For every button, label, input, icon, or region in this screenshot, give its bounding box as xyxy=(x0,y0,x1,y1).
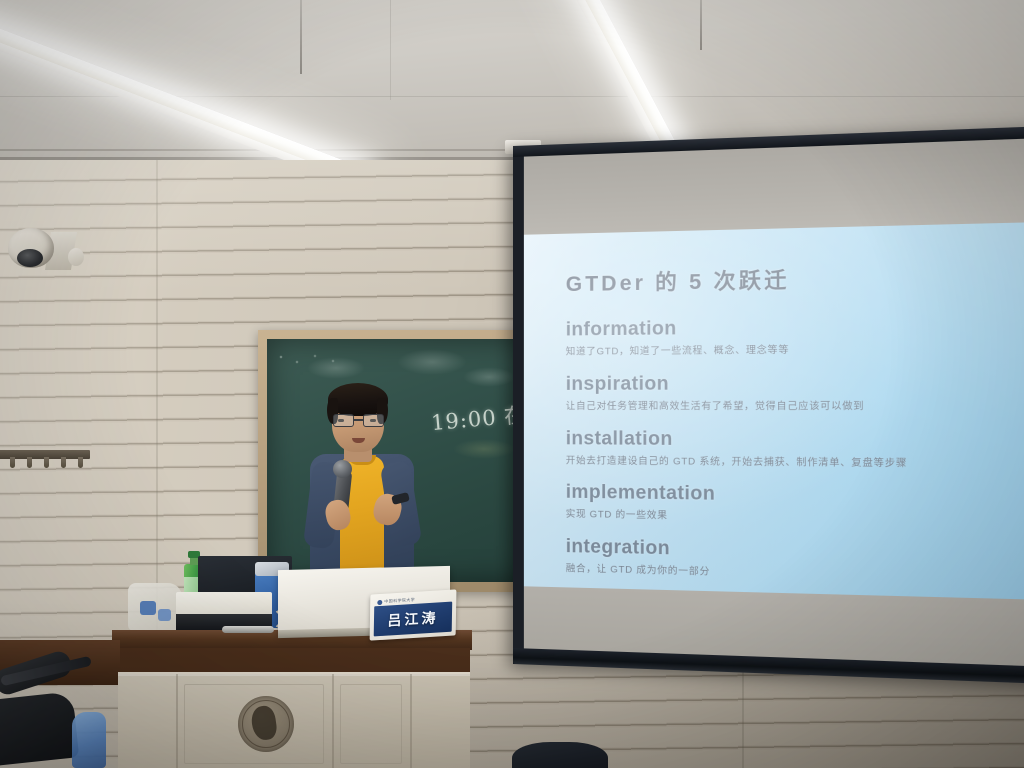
bottle-neck xyxy=(190,557,198,565)
plastic-bag xyxy=(128,583,182,631)
dome-security-camera xyxy=(8,222,82,280)
slide-section-implementation: implementation 实现 GTD 的一些效果 xyxy=(566,482,1024,530)
slide-section-installation: installation 开始去打造建设自己的 GTD 系统，开始去捕获、制作清… xyxy=(566,428,1024,472)
section-subtext: 实现 GTD 的一些效果 xyxy=(566,509,1024,530)
chalk-smudge xyxy=(453,439,515,459)
dark-object-foreground xyxy=(512,742,608,768)
presenter xyxy=(288,378,438,578)
section-subtext: 知道了GTD，知道了一些流程、概念、理念等等 xyxy=(566,343,1024,360)
glasses-bridge xyxy=(354,419,363,421)
podium-emblem xyxy=(238,696,294,752)
section-heading: installation xyxy=(566,428,1024,453)
camera-lens xyxy=(17,249,43,267)
podium-seam xyxy=(410,674,412,768)
blue-floor-object xyxy=(72,712,106,768)
section-heading: implementation xyxy=(566,482,1024,511)
nameplate-name: 吕江涛 xyxy=(387,607,438,630)
microphone-head xyxy=(333,460,352,478)
coat-hook xyxy=(27,457,32,468)
silver-pen xyxy=(222,626,274,633)
camera-wall-mount xyxy=(68,248,84,266)
glasses-icon xyxy=(332,414,385,428)
logo-dot-icon xyxy=(377,599,382,604)
slide-section-inspiration: inspiration 让自己对任务管理和高效生活有了希望，觉得自己应该可以做到 xyxy=(566,371,1024,414)
camera-dome xyxy=(8,228,54,268)
ceiling-panel-line xyxy=(390,0,391,100)
nameplate-plate: 吕江涛 xyxy=(374,602,453,637)
section-heading: inspiration xyxy=(566,371,1024,395)
glasses-lens xyxy=(333,414,354,427)
section-subtext: 融合，让 GTD 成为你的一部分 xyxy=(566,563,1024,587)
presentation-slide: GTDer 的 5 次跃迁 information 知道了GTD，知道了一些流程… xyxy=(524,222,1024,601)
podium xyxy=(118,672,470,768)
lamp-suspension-wire xyxy=(700,0,702,50)
bag-contents xyxy=(158,609,171,621)
slide-section-integration: integration 融合，让 GTD 成为你的一部分 xyxy=(566,536,1024,587)
coat-hook xyxy=(10,457,15,468)
coat-hook xyxy=(44,457,49,468)
chalk-smudge xyxy=(307,357,365,379)
section-subtext: 开始去打造建设自己的 GTD 系统，开始去捕获、制作清单、复盘等步骤 xyxy=(566,455,1024,472)
coat-hook xyxy=(61,457,66,468)
podium-panel xyxy=(340,684,402,764)
coat-hook xyxy=(78,457,83,468)
section-heading: integration xyxy=(566,536,1024,568)
podium-seam xyxy=(332,674,334,768)
screen-surface: GTDer 的 5 次跃迁 information 知道了GTD，知道了一些流程… xyxy=(524,137,1024,667)
section-heading: information xyxy=(566,314,1024,342)
slide-title: GTDer 的 5 次跃迁 xyxy=(566,259,1024,298)
section-subtext: 让自己对任务管理和高效生活有了希望，觉得自己应该可以做到 xyxy=(566,401,1024,415)
bag-contents xyxy=(140,601,156,615)
chalk-smudge xyxy=(463,367,515,387)
lecture-hall-photo: 19:00 在 GTDer 的 5 次跃迁 information 知道了GTD… xyxy=(0,0,1024,768)
glasses-lens xyxy=(363,414,384,427)
podium-seam xyxy=(176,674,178,768)
lamp-suspension-wire xyxy=(300,0,302,74)
projection-screen: GTDer 的 5 次跃迁 information 知道了GTD，知道了一些流程… xyxy=(513,125,1024,684)
slide-section-information: information 知道了GTD，知道了一些流程、概念、理念等等 xyxy=(566,314,1024,360)
chair-seat xyxy=(0,691,79,766)
nameplate: 中国科学院大学 吕江涛 xyxy=(372,593,455,640)
chalk-smudge xyxy=(397,349,467,375)
